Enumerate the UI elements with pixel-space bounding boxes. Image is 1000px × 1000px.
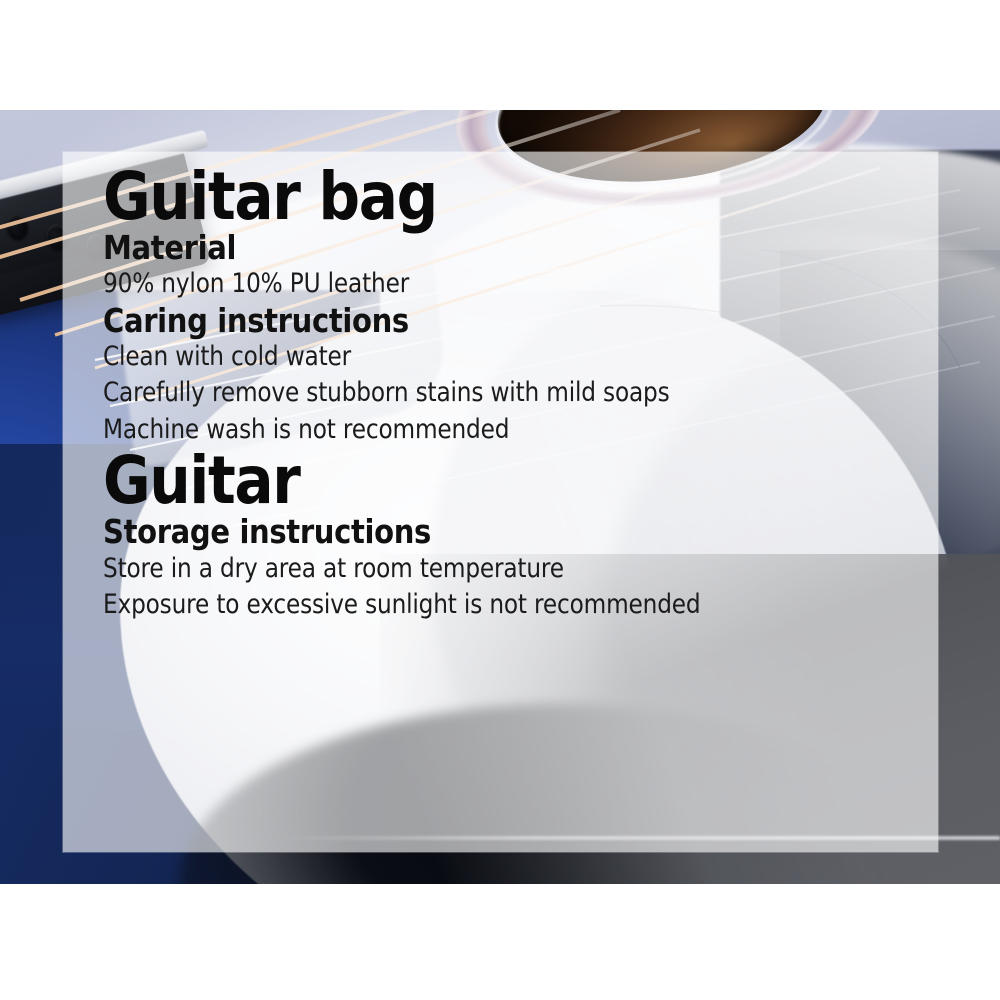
caring-instruction-line: Carefully remove stubborn stains with mi… [103, 375, 800, 411]
storage-instructions-heading: Storage instructions [103, 514, 817, 550]
info-overlay-panel: Guitar bag Material 90% nylon 10% PU lea… [63, 152, 938, 852]
product-info-image: Guitar bag Material 90% nylon 10% PU lea… [0, 0, 1000, 1000]
caring-instructions-heading: Caring instructions [103, 303, 817, 339]
material-text: 90% nylon 10% PU leather [103, 266, 800, 302]
guitar-title: Guitar [103, 448, 817, 514]
material-heading: Material [103, 230, 817, 266]
storage-instruction-line: Store in a dry area at room temperature [103, 551, 800, 587]
info-text-container: Guitar bag Material 90% nylon 10% PU lea… [103, 164, 914, 624]
caring-instruction-line: Clean with cold water [103, 339, 800, 375]
guitar-bag-title: Guitar bag [103, 164, 817, 230]
storage-instruction-line: Exposure to excessive sunlight is not re… [103, 587, 800, 623]
